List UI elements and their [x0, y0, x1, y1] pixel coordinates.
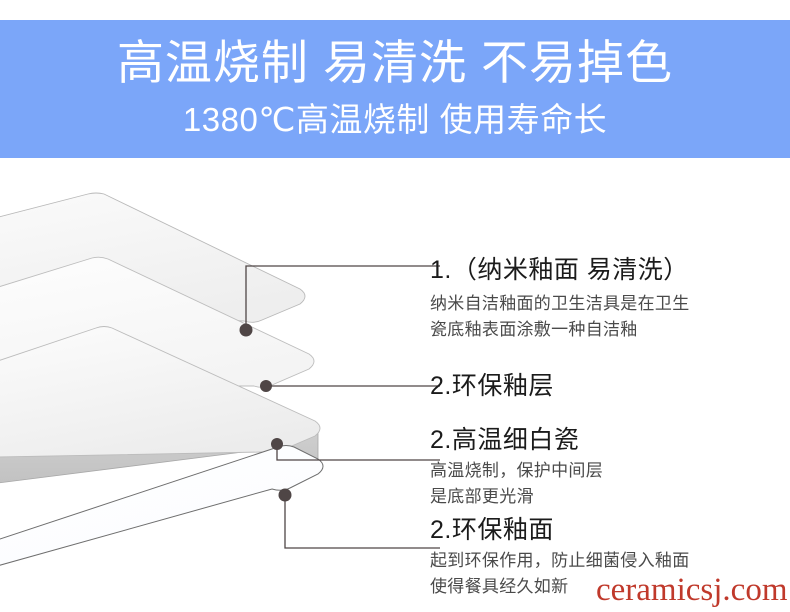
annotation-3-body-line-2: 是底部更光滑 [430, 484, 603, 510]
site-watermark: ceramicsj.com [596, 572, 788, 608]
marker-layer-1 [240, 324, 253, 337]
marker-layer-3 [271, 438, 283, 450]
marker-layer-2 [260, 380, 272, 392]
banner-subtitle: 1380℃高温烧制 使用寿命长 [0, 98, 790, 142]
annotation-4-heading: 2.环保釉面 [430, 515, 554, 545]
marker-layer-4 [279, 489, 292, 502]
annotation-4-body-line-1: 起到环保作用，防止细菌侵入釉面 [430, 548, 690, 574]
banner-title: 高温烧制 易清洗 不易掉色 [0, 34, 790, 92]
exploded-layer-diagram [0, 158, 460, 612]
annotation-1-body-line-2: 瓷底釉表面涂敷一种自洁釉 [430, 317, 690, 343]
product-feature-infographic: 高温烧制 易清洗 不易掉色 1380℃高温烧制 使用寿命长 [0, 0, 790, 612]
header-banner: 高温烧制 易清洗 不易掉色 1380℃高温烧制 使用寿命长 [0, 20, 790, 158]
annotation-1-heading: 1.（纳米釉面 易清洗） [430, 255, 689, 285]
annotation-3-heading: 2.高温细白瓷 [430, 425, 579, 455]
annotation-3-body-line-1: 高温烧制，保护中间层 [430, 458, 603, 484]
annotation-1-body-line-1: 纳米自洁釉面的卫生洁具是在卫生 [430, 291, 690, 317]
annotation-2-heading: 2.环保釉层 [430, 371, 554, 401]
annotation-1-body: 纳米自洁釉面的卫生洁具是在卫生 瓷底釉表面涂敷一种自洁釉 [430, 291, 690, 343]
annotation-3-body: 高温烧制，保护中间层 是底部更光滑 [430, 458, 603, 510]
